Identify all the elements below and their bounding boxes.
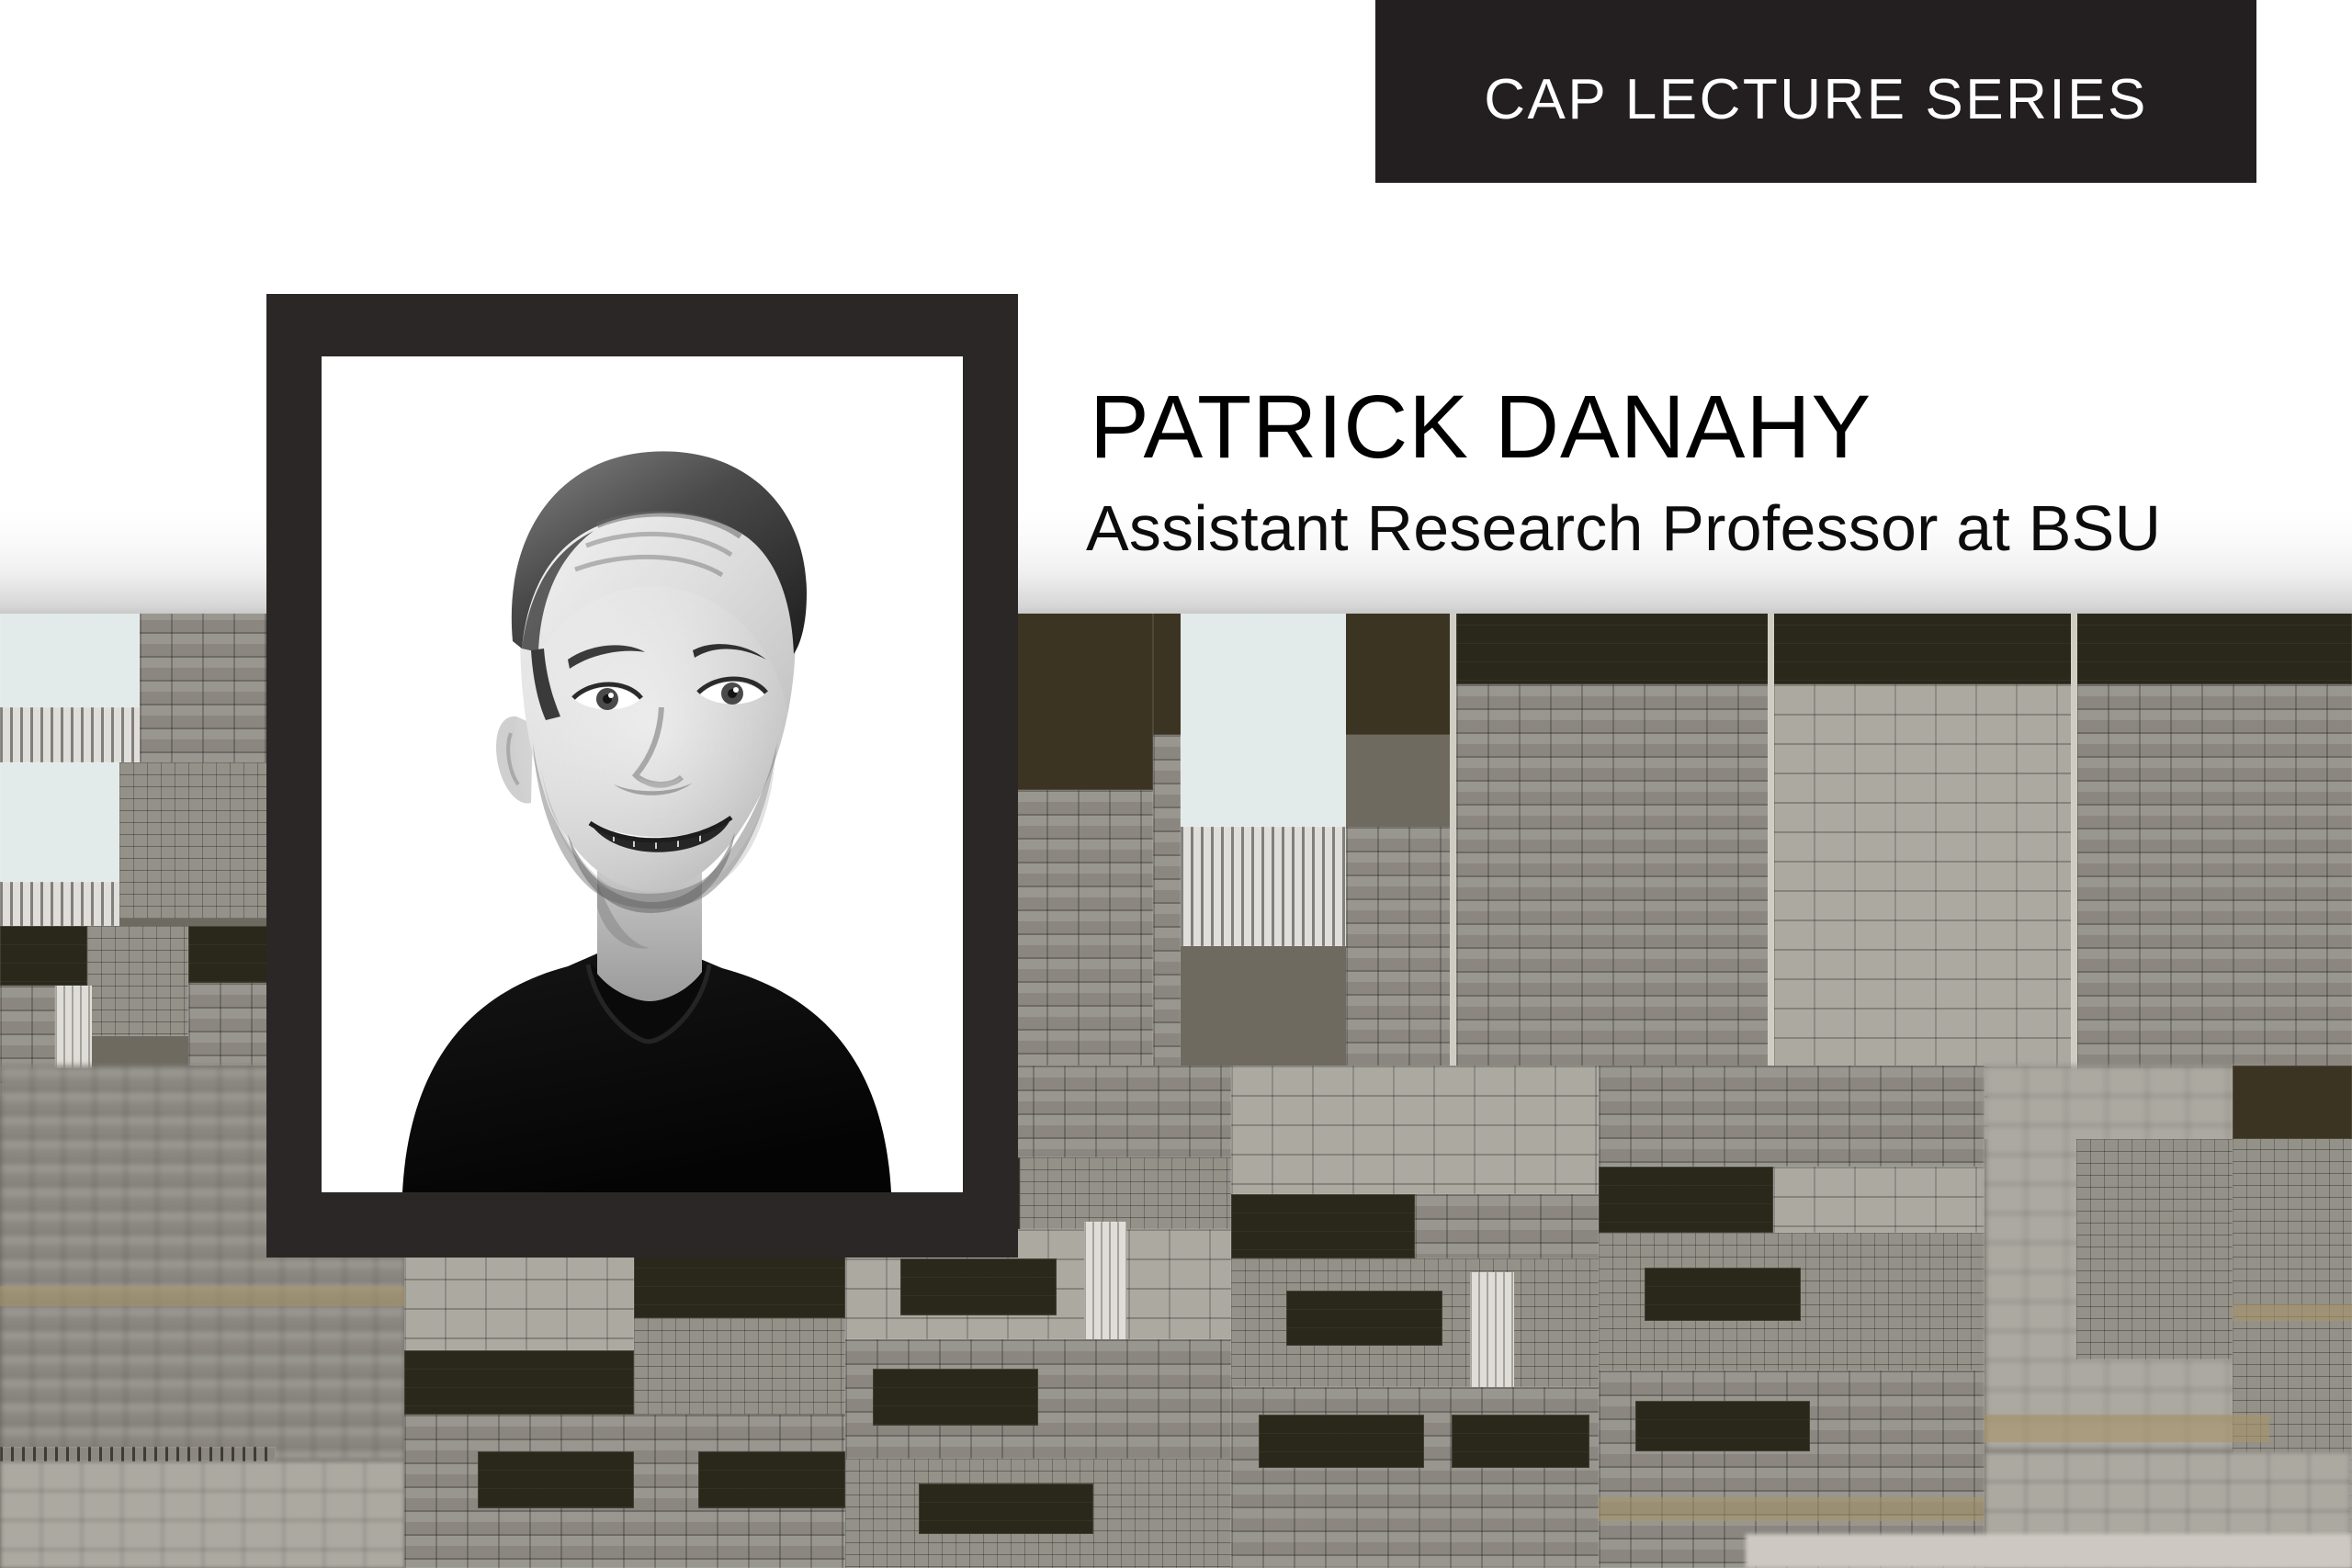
mosaic-tile — [55, 986, 92, 1068]
mosaic-tile — [698, 1451, 845, 1508]
mosaic-tile — [0, 882, 119, 926]
mosaic-tile — [1231, 1194, 1415, 1258]
series-banner-label: CAP LECTURE SERIES — [1484, 55, 2148, 129]
mosaic-band — [1599, 1497, 1984, 1521]
mosaic-tile — [1415, 1194, 1599, 1258]
mosaic-tile — [404, 1350, 634, 1415]
mosaic-tile — [1599, 1066, 1984, 1167]
mosaic-tile — [634, 1318, 845, 1415]
mosaic-band — [1984, 1415, 2269, 1442]
mosaic-tile — [1015, 790, 1153, 1066]
mosaic-tile — [0, 1461, 404, 1568]
lecture-announcement-slide: CAP LECTURE SERIES — [0, 0, 2352, 1568]
mosaic-band — [0, 1286, 404, 1306]
mosaic-tile — [404, 1249, 634, 1350]
mosaic-tile — [87, 926, 188, 1036]
mosaic-tile — [1286, 1291, 1442, 1346]
mosaic-tile — [1773, 1167, 1984, 1233]
portrait-frame — [266, 294, 1018, 1258]
mosaic-tile — [1645, 1268, 1801, 1321]
mosaic-tile — [873, 1369, 1038, 1426]
mosaic-tile — [1599, 1167, 1773, 1233]
mosaic-tile-sky — [0, 762, 119, 882]
mosaic-sill — [1746, 1534, 2352, 1568]
cap-lecture-series-banner: CAP LECTURE SERIES — [1375, 0, 2256, 183]
mosaic-tile — [1181, 827, 1346, 946]
speaker-portrait-photo — [322, 356, 963, 1192]
mosaic-tile — [1259, 1415, 1424, 1468]
mosaic-tile — [0, 707, 140, 762]
speaker-name: PATRICK DANAHY — [1090, 382, 2284, 471]
mosaic-mullion — [1450, 496, 1456, 1139]
mosaic-tile — [0, 926, 87, 986]
mosaic-tile — [919, 1483, 1093, 1534]
mosaic-tile — [478, 1451, 634, 1508]
mosaic-tile — [2076, 1139, 2233, 1359]
mosaic-tile — [0, 496, 140, 707]
mosaic-tile — [1231, 1066, 1599, 1194]
mosaic-tile — [2233, 1066, 2352, 1139]
mosaic-tile — [1635, 1401, 1810, 1451]
mosaic-mullion — [2071, 496, 2077, 1139]
mosaic-mullion — [1768, 496, 1774, 1139]
mosaic-tile — [634, 1249, 845, 1318]
mosaic-tile — [900, 1258, 1057, 1315]
speaker-title: Assistant Research Professor at BSU — [1086, 496, 2284, 560]
mosaic-tile — [1452, 1415, 1589, 1468]
mosaic-tile — [1020, 1157, 1231, 1229]
speaker-info-block: PATRICK DANAHY Assistant Research Profes… — [1090, 382, 2284, 560]
mosaic-band — [2233, 1304, 2352, 1321]
mosaic-band — [0, 1447, 276, 1461]
